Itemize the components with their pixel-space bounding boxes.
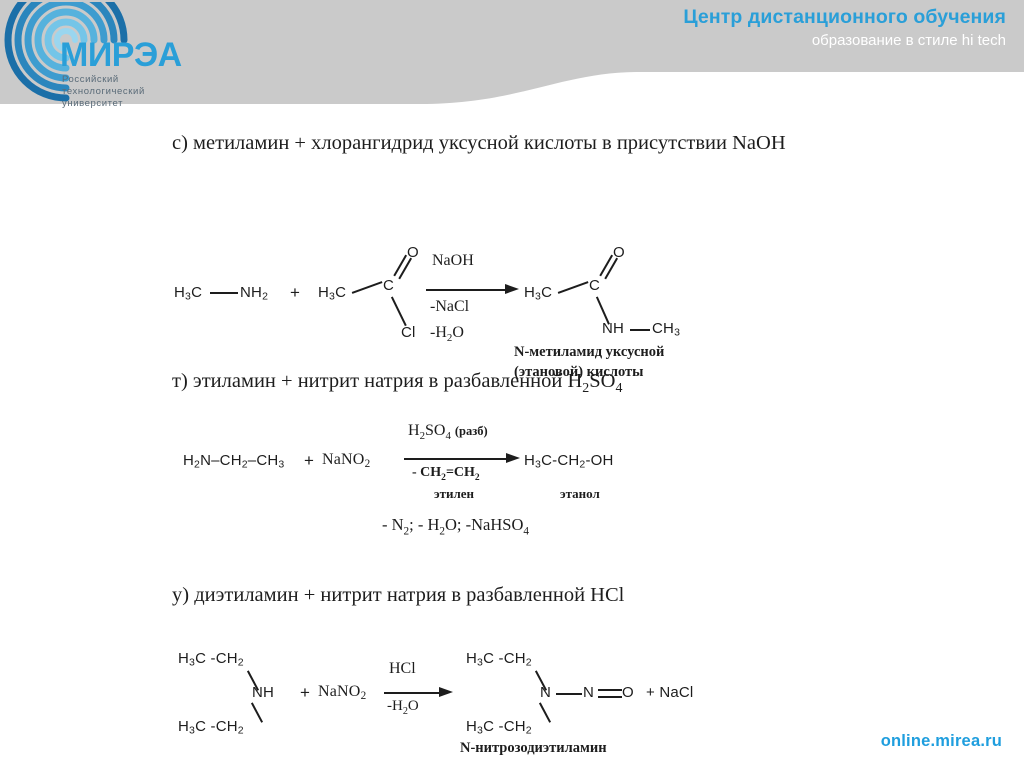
reaction-y-figure: H3C -CH2 NH H3C -CH2 + NaNO2 HCl -H2O H3… (0, 622, 1024, 772)
condition-above-h2so4: H2SO4 (разб) (408, 422, 488, 442)
bond-n-n (556, 693, 582, 695)
product-label-line1-rxn-c: N-метиламид уксусной (514, 344, 664, 361)
atom-h3c-left: H3C (174, 284, 202, 303)
logo-wordmark: МИРЭА (60, 36, 182, 74)
atom-carbonyl-c: C (383, 277, 394, 294)
condition-above-hcl: HCl (389, 660, 416, 678)
reaction-c-figure: H3C NH2 + H3C C O Cl NaOH -NaCl -H2O H3C… (0, 172, 1024, 402)
reaction-t-figure: H2N–CH2–CH3 + NaNO2 H2SO4 (разб) - CH2=C… (0, 407, 1024, 567)
slide-content: с) метиламин + хлорангидрид уксусной кис… (0, 112, 1024, 767)
bond-c-cl (391, 296, 406, 325)
plus-sign-1: + (290, 283, 300, 303)
atom-nh-amide: NH (602, 320, 624, 337)
atom-nh2: NH2 (240, 284, 268, 303)
reaction-arrow-line-1 (426, 289, 508, 291)
bond-ch3-c (352, 281, 383, 293)
condition-below-ethylene-label: этилен (434, 486, 474, 502)
condition-below-ethylene: - CH2=CH2 (412, 465, 480, 483)
logo-subtitle-line1: Российский (62, 74, 119, 85)
atom-nh-center: NH (252, 684, 274, 701)
reaction-arrow-line-3 (384, 692, 442, 694)
byproduct-nacl: + NaCl (646, 684, 693, 701)
atom-oxygen-1: O (407, 244, 419, 261)
atom-chlorine: Cl (401, 324, 416, 341)
product-label-rxn-t: этанол (560, 486, 600, 502)
atom-nitroso-o: O (622, 684, 634, 701)
condition-below-h2o-3: -H2O (387, 698, 419, 717)
byproducts-rxn-t: - N2; - H2O; -NaHSO4 (382, 515, 529, 537)
atom-n-center: N (540, 684, 551, 701)
condition-below-nacl: -NaCl (430, 298, 469, 316)
reagent-nano2-1: NaNO2 (322, 451, 370, 470)
atom-ethylamine: H2N–CH2–CH3 (183, 452, 284, 471)
product-label-rxn-y: N-нитрозодиэтиламин (460, 740, 607, 757)
logo-subtitle-line3: университет (62, 98, 123, 109)
bond-n-o-b (598, 696, 622, 698)
atom-diethylamine-bottom: H3C -CH2 (178, 718, 244, 737)
atom-ethanol-product: H3C-CH2-OH (524, 452, 614, 471)
reaction-arrow-head-2 (506, 453, 520, 463)
header-subtitle: образование в стиле hi tech (683, 31, 1006, 51)
atom-diethylamine-top: H3C -CH2 (178, 650, 244, 669)
bond-n-o-a (598, 689, 622, 691)
header-titles: Центр дистанционного обучения образовани… (683, 6, 1006, 51)
condition-above-naoh: NaOH (432, 252, 474, 270)
atom-nitroso-n: N (583, 684, 594, 701)
plus-sign-3: + (300, 683, 310, 703)
atom-product-carbonyl-c: C (589, 277, 600, 294)
plus-sign-2: + (304, 451, 314, 471)
bond-diethylamine-bottom-n (251, 702, 263, 722)
reaction-t-heading: т) этиламин + нитрит натрия в разбавленн… (172, 370, 622, 397)
reaction-arrow-head-3 (439, 687, 453, 697)
mirea-logo: МИРЭА Российский технологический универс… (4, 2, 189, 110)
header-title: Центр дистанционного обучения (683, 6, 1006, 28)
reaction-y-heading: у) диэтиламин + нитрит натрия в разбавле… (172, 584, 624, 607)
reaction-arrow-head-1 (505, 284, 519, 294)
bond-c-n (210, 292, 238, 294)
atom-ch3-amide: CH3 (652, 320, 680, 339)
reaction-arrow-line-2 (404, 458, 509, 460)
reagent-nano2-2: NaNO2 (318, 683, 366, 702)
atom-h3c-product: H3C (524, 284, 552, 303)
atom-product-oxygen: O (613, 244, 625, 261)
atom-product-top-ethyl: H3C -CH2 (466, 650, 532, 669)
condition-below-h2o: -H2O (430, 324, 464, 344)
atom-product-bottom-ethyl: H3C -CH2 (466, 718, 532, 737)
bond-n-ch3 (630, 329, 650, 331)
reaction-c-heading: с) метиламин + хлорангидрид уксусной кис… (172, 132, 786, 155)
logo-subtitle-line2: технологический (62, 86, 145, 97)
footer-url[interactable]: online.mirea.ru (881, 732, 1002, 751)
atom-h3c-acetyl: H3C (318, 284, 346, 303)
bond-product-bottom-n (539, 702, 551, 722)
bond-product-ch3-c (558, 281, 589, 293)
